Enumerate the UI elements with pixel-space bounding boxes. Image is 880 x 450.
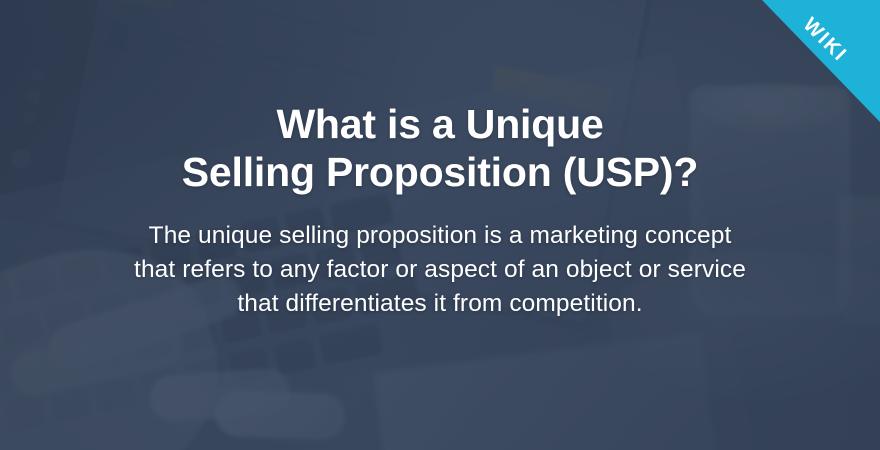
card-content: What is a Unique Selling Proposition (US… (0, 0, 880, 320)
wiki-definition-card: WIKI What is a Unique Selling Propositio… (0, 0, 880, 450)
title-line-1: What is a Unique (62, 101, 818, 149)
page-title: What is a Unique Selling Proposition (US… (62, 0, 818, 196)
definition-line-3: that differentiates it from competition. (62, 287, 818, 321)
definition-line-2: that refers to any factor or aspect of a… (62, 253, 818, 287)
definition-text: The unique selling proposition is a mark… (62, 196, 818, 320)
title-line-2: Selling Proposition (USP)? (62, 149, 818, 197)
definition-line-1: The unique selling proposition is a mark… (62, 219, 818, 253)
